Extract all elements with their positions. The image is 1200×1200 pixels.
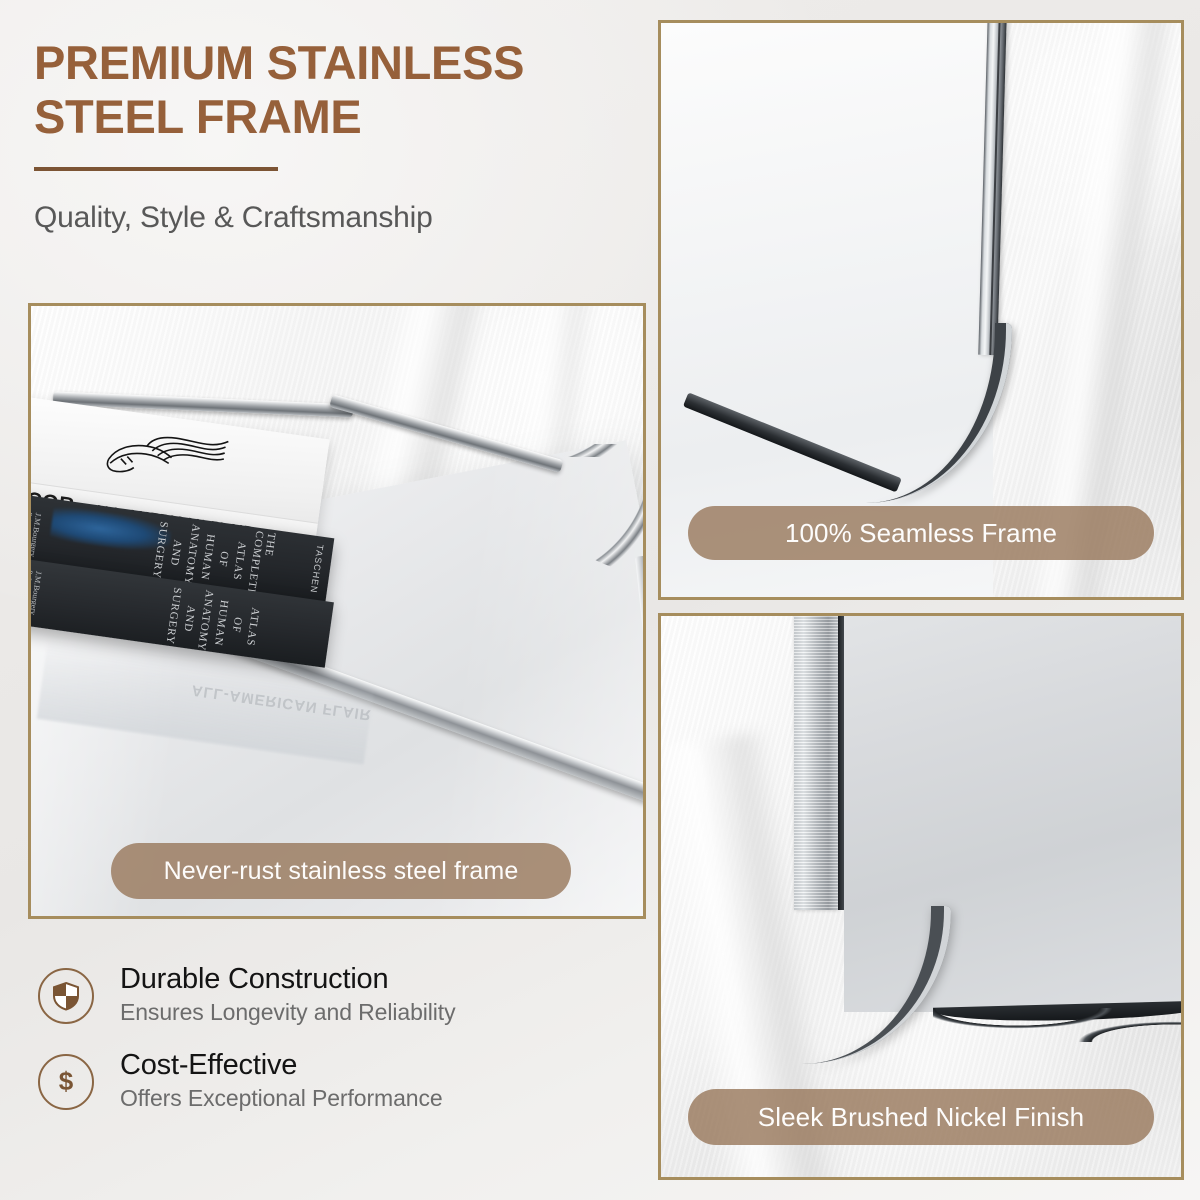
- svg-text:$: $: [59, 1067, 74, 1096]
- spine-word: HUMAN: [198, 533, 216, 581]
- feature-text: Durable Construction Ensures Longevity a…: [120, 962, 456, 1026]
- feature-item: $ Cost-Effective Offers Exceptional Perf…: [38, 1048, 638, 1112]
- black-book-publisher: TASCHEN: [309, 544, 326, 594]
- spine-word: AND: [168, 538, 184, 566]
- feature-title: Cost-Effective: [120, 1048, 443, 1082]
- frame-seam-line: [838, 616, 844, 910]
- page-subtitle: Quality, Style & Craftsmanship: [34, 201, 634, 235]
- feature-title: Durable Construction: [120, 962, 456, 996]
- spine-series: THE COMPLETE: [245, 530, 278, 599]
- spine-word: HUMAN: [212, 599, 230, 647]
- product-photo-finish: Sleek Brushed Nickel Finish: [658, 613, 1184, 1180]
- black-book-author: J.M.Bourgery & N.H.Jacob: [31, 511, 43, 563]
- header-block: PREMIUM STAINLESS STEEL FRAME Quality, S…: [34, 36, 634, 235]
- shield-icon: [38, 968, 94, 1024]
- page-title: PREMIUM STAINLESS STEEL FRAME: [34, 36, 634, 143]
- feature-subtitle: Offers Exceptional Performance: [120, 1085, 443, 1112]
- infographic-page: PREMIUM STAINLESS STEEL FRAME Quality, S…: [0, 0, 1200, 1200]
- spine-word: ATLAS: [244, 607, 261, 648]
- feature-list: Durable Construction Ensures Longevity a…: [38, 962, 638, 1134]
- spine-word: AND: [181, 604, 197, 632]
- feature-item: Durable Construction Ensures Longevity a…: [38, 962, 638, 1026]
- caption-pill-main: Never-rust stainless steel frame: [111, 843, 571, 899]
- spine-word: SURGERY: [150, 521, 170, 580]
- pointing-hand-icon: [103, 423, 235, 492]
- spine-word: OF: [230, 616, 244, 634]
- frame-scallop-detail: [933, 1008, 1181, 1042]
- tray-photo-scene: DECOR ALL-AMERICAN FLAIR DECOR: [31, 306, 643, 916]
- spine-word: ATLAS: [231, 541, 248, 582]
- title-divider: [34, 167, 278, 171]
- page-title-line-1: PREMIUM STAINLESS: [34, 36, 524, 89]
- product-photo-seamless: 100% Seamless Frame: [658, 20, 1184, 600]
- spine-word: SURGERY: [163, 587, 183, 646]
- brushed-nickel-post: [794, 616, 838, 910]
- product-photo-main: DECOR ALL-AMERICAN FLAIR DECOR: [28, 303, 646, 919]
- page-title-line-2: STEEL FRAME: [34, 90, 634, 144]
- caption-pill-finish: Sleek Brushed Nickel Finish: [688, 1089, 1154, 1145]
- black-book-author: J.M.Bourgery & N.H.Jacob: [31, 569, 43, 621]
- caption-pill-seamless: 100% Seamless Frame: [688, 506, 1154, 560]
- spine-word: OF: [216, 550, 230, 568]
- dollar-icon: $: [38, 1054, 94, 1110]
- feature-subtitle: Ensures Longevity and Reliability: [120, 999, 456, 1026]
- feature-text: Cost-Effective Offers Exceptional Perfor…: [120, 1048, 443, 1112]
